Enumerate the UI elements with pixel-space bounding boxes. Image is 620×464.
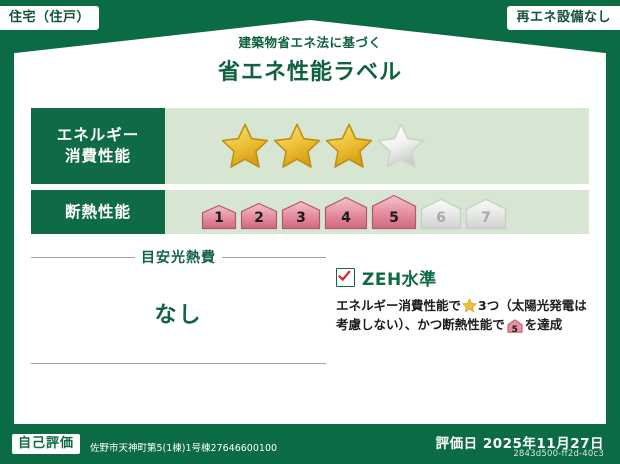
zeh-desc-part2: 3つ（太陽光発電: [478, 298, 574, 313]
rule-left: [31, 257, 135, 258]
utility-cost-value: なし: [154, 297, 202, 329]
star-rating: [220, 122, 426, 170]
zeh-description: エネルギー消費性能で3つ（太陽光発電は考慮しない）、かつ断熱性能で5を達成: [336, 296, 589, 339]
house-badge-number: 5: [507, 324, 523, 338]
zeh-title: ZEH水準: [362, 265, 437, 290]
rule-right: [222, 257, 326, 258]
row-energy-performance: エネルギー 消費性能: [31, 108, 589, 184]
zeh-desc-part4: を達成: [525, 317, 563, 332]
utility-cost-heading: 目安光熱費: [31, 247, 326, 267]
insulation-level-4: 4: [324, 196, 368, 230]
house-icon-filled: [201, 204, 237, 230]
property-address: 佐野市天神町第5(1棟)1号棟27646600100: [90, 440, 277, 454]
house-icon-filled: [371, 194, 417, 230]
star-icon-filled: [220, 122, 270, 170]
roof-shape: [14, 20, 606, 92]
energy-label-line2: 消費性能: [65, 147, 131, 165]
star-icon-filled: [272, 122, 322, 170]
zeh-checkbox[interactable]: [336, 268, 355, 287]
utility-cost-title: 目安光熱費: [141, 247, 216, 267]
house-icon-filled: [240, 202, 278, 230]
check-icon: [338, 270, 351, 283]
insulation-level-1: 1: [201, 204, 237, 230]
energy-performance-value: [165, 108, 589, 184]
house-badge-inline: 5: [507, 319, 523, 338]
row-insulation-performance: 断熱性能 1234567: [31, 190, 589, 234]
star-icon-filled: [324, 122, 374, 170]
insulation-level-scale: 1234567: [201, 194, 507, 230]
house-icon-empty: [465, 198, 507, 230]
insulation-performance-value: 1234567: [165, 190, 589, 234]
utility-cost-bottom-rule: [31, 363, 326, 364]
house-icon-filled: [281, 200, 321, 230]
lower-section: 目安光熱費 なし ZEH水準: [31, 245, 589, 416]
document-id: 2843d500-ff2d-40c3: [513, 449, 604, 459]
insulation-level-6: 6: [420, 198, 462, 230]
energy-performance-label: 住宅（住戸） 再エネ設備なし 建築物省エネ法に基づく 省エネ性能ラベル エネルギ…: [0, 0, 620, 464]
zeh-block: ZEH水準 エネルギー消費性能で3つ（太陽光発電は考慮しない）、かつ断熱性能で5…: [326, 245, 589, 416]
energy-performance-label-box: エネルギー 消費性能: [31, 108, 165, 184]
insulation-level-5: 5: [371, 194, 417, 230]
insulation-level-2: 2: [240, 202, 278, 230]
insulation-level-3: 3: [281, 200, 321, 230]
house-icon-empty: [420, 198, 462, 230]
utility-cost-block: 目安光熱費 なし: [31, 245, 326, 416]
label-house-shape: 建築物省エネ法に基づく 省エネ性能ラベル エネルギー 消費性能: [14, 20, 606, 422]
utility-cost-body: なし: [31, 267, 326, 359]
house-icon-filled: [324, 196, 368, 230]
zeh-desc-part1: エネルギー消費性能で: [336, 298, 461, 313]
self-evaluation-badge: 自己評価: [12, 434, 80, 454]
label-body-card: エネルギー 消費性能 断熱性能 1234567: [14, 85, 606, 422]
footer-divider: [14, 422, 606, 424]
performance-rows: エネルギー 消費性能 断熱性能 1234567: [31, 108, 589, 240]
star-icon-empty: [376, 122, 426, 170]
energy-label-line1: エネルギー: [57, 126, 140, 144]
insulation-performance-label-box: 断熱性能: [31, 190, 165, 234]
zeh-heading: ZEH水準: [336, 265, 589, 290]
insulation-level-7: 7: [465, 198, 507, 230]
star-icon-inline: [462, 298, 477, 313]
label-footer: 自己評価 佐野市天神町第5(1棟)1号棟27646600100 評価日 2025…: [0, 422, 620, 464]
